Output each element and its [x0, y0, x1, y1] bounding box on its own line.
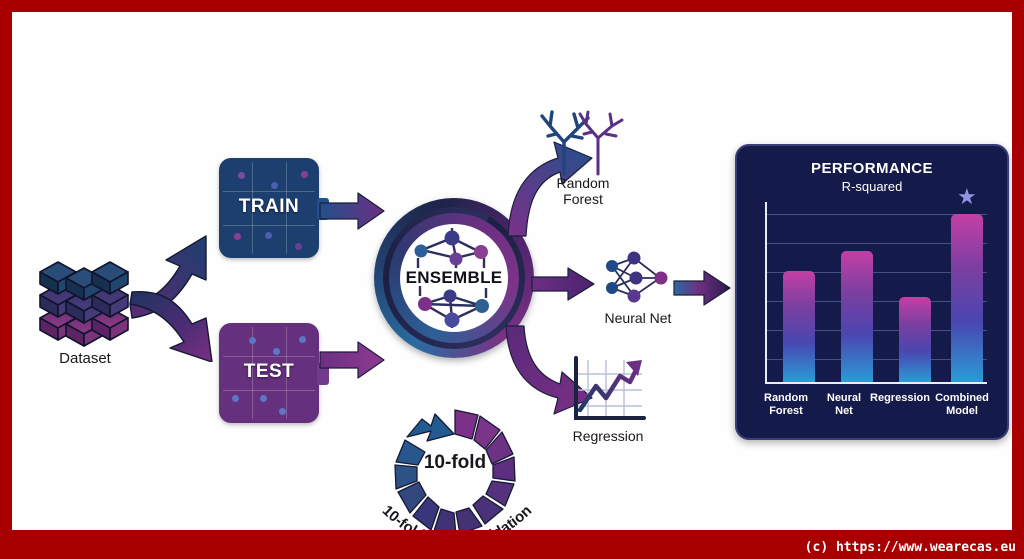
- train-to-ensemble-arrow: [318, 187, 388, 235]
- xtick-line1: Combined: [929, 392, 995, 405]
- x-axis: [765, 382, 987, 384]
- xtick-line2: Net: [817, 405, 871, 418]
- train-label: TRAIN: [219, 196, 319, 218]
- page-title: PERFORMANCE: [737, 160, 1007, 177]
- train-box[interactable]: TRAIN: [219, 158, 319, 258]
- line-chart-icon: [568, 356, 648, 426]
- performance-bar-chart: ★: [761, 202, 987, 384]
- to-performance-arrow: [672, 268, 734, 308]
- bar-combined-model[interactable]: [951, 214, 983, 382]
- xtick-regression: Regression: [867, 392, 933, 405]
- neural-network-icon: [598, 248, 678, 308]
- test-label: TEST: [219, 361, 319, 383]
- xtick-line2: Model: [929, 405, 995, 418]
- svg-text:10-fold Cross-Validation: 10-fold Cross-Validation: [379, 502, 535, 530]
- xtick-line1: Regression: [867, 392, 933, 405]
- xtick-line1: Neural: [817, 392, 871, 405]
- bar-random-forest[interactable]: [783, 271, 815, 382]
- xtick-random-forest: Random Forest: [751, 392, 821, 418]
- regression-label: Regression: [553, 428, 663, 444]
- cv-caption-text: 10-fold Cross-Validation: [379, 502, 535, 530]
- random-forest-label: Random Forest: [528, 175, 638, 207]
- test-to-ensemble-arrow: [318, 336, 388, 384]
- neural-net-label: Neural Net: [580, 310, 696, 326]
- xtick-line2: Forest: [751, 405, 821, 418]
- watermark: (c) https://www.wearecas.eu: [805, 540, 1016, 555]
- test-box[interactable]: TEST: [219, 323, 319, 423]
- circular-arrows-icon[interactable]: 10-fold 10-fold Cross-Validation: [386, 404, 524, 530]
- ensemble-to-neuralnet-arrow: [530, 264, 600, 304]
- figure-canvas: Dataset: [0, 0, 1024, 559]
- y-axis: [765, 202, 767, 384]
- cv-caption: 10-fold Cross-Validation: [372, 496, 542, 530]
- xtick-combined-model: Combined Model: [929, 392, 995, 418]
- bar-regression[interactable]: [899, 297, 931, 382]
- cv-center-label: 10-fold: [386, 452, 524, 474]
- ensemble-label: ENSEMBLE: [374, 268, 534, 288]
- diagram-area: Dataset: [12, 12, 1012, 530]
- bar-neural-net[interactable]: [841, 251, 873, 382]
- star-icon: ★: [957, 186, 977, 208]
- random-forest-label-line2: Forest: [528, 191, 638, 207]
- random-forest-label-line1: Random: [528, 175, 638, 191]
- tree-icon: [536, 108, 632, 176]
- performance-panel: PERFORMANCE R-squared ★ Random Fores: [735, 144, 1009, 440]
- xtick-line1: Random: [751, 392, 821, 405]
- xtick-neural-net: Neural Net: [817, 392, 871, 418]
